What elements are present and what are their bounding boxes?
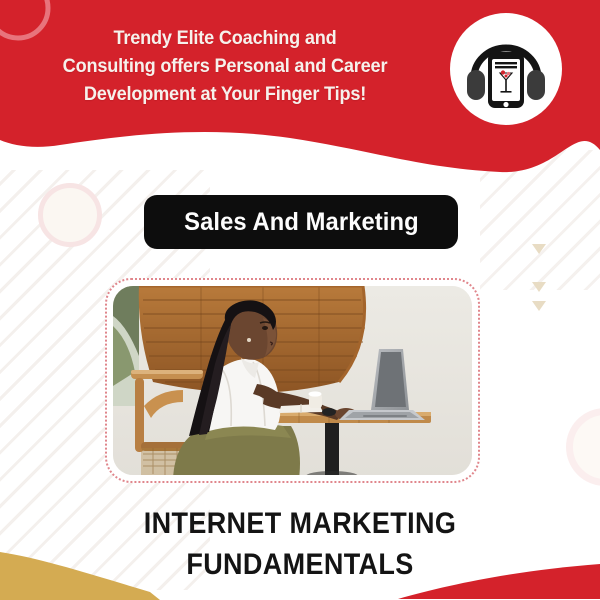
headline-line-3: Development at Your Finger Tips! bbox=[44, 80, 407, 108]
headphones-phone-logo-icon bbox=[463, 26, 549, 112]
woman-working-on-laptop-photo bbox=[113, 286, 472, 475]
section-banner-label: Sales And Marketing bbox=[184, 208, 419, 237]
headline-line-2: Consulting offers Personal and Career bbox=[44, 52, 407, 80]
red-swoosh bbox=[398, 564, 600, 599]
bottom-swoosh-shapes bbox=[0, 540, 600, 600]
bottom-swoosh-decoration bbox=[0, 540, 600, 600]
brand-logo-badge bbox=[450, 13, 562, 125]
pale-circle-right bbox=[566, 408, 600, 486]
triangle-marker-icon-1 bbox=[532, 244, 546, 254]
headline: Trendy Elite Coaching and Consulting off… bbox=[44, 24, 407, 108]
photo-illustration bbox=[113, 286, 472, 475]
promo-poster: Trendy Elite Coaching and Consulting off… bbox=[0, 0, 600, 600]
section-banner: Sales And Marketing bbox=[144, 195, 458, 249]
triangle-marker-icon-3 bbox=[532, 301, 546, 311]
triangle-marker-icon-2 bbox=[532, 282, 546, 292]
header-band: Trendy Elite Coaching and Consulting off… bbox=[0, 0, 600, 200]
photo-frame bbox=[105, 278, 480, 483]
gold-swoosh bbox=[0, 552, 160, 600]
page-title-line-1: INTERNET MARKETING bbox=[30, 503, 570, 544]
headline-line-1: Trendy Elite Coaching and bbox=[44, 24, 407, 52]
